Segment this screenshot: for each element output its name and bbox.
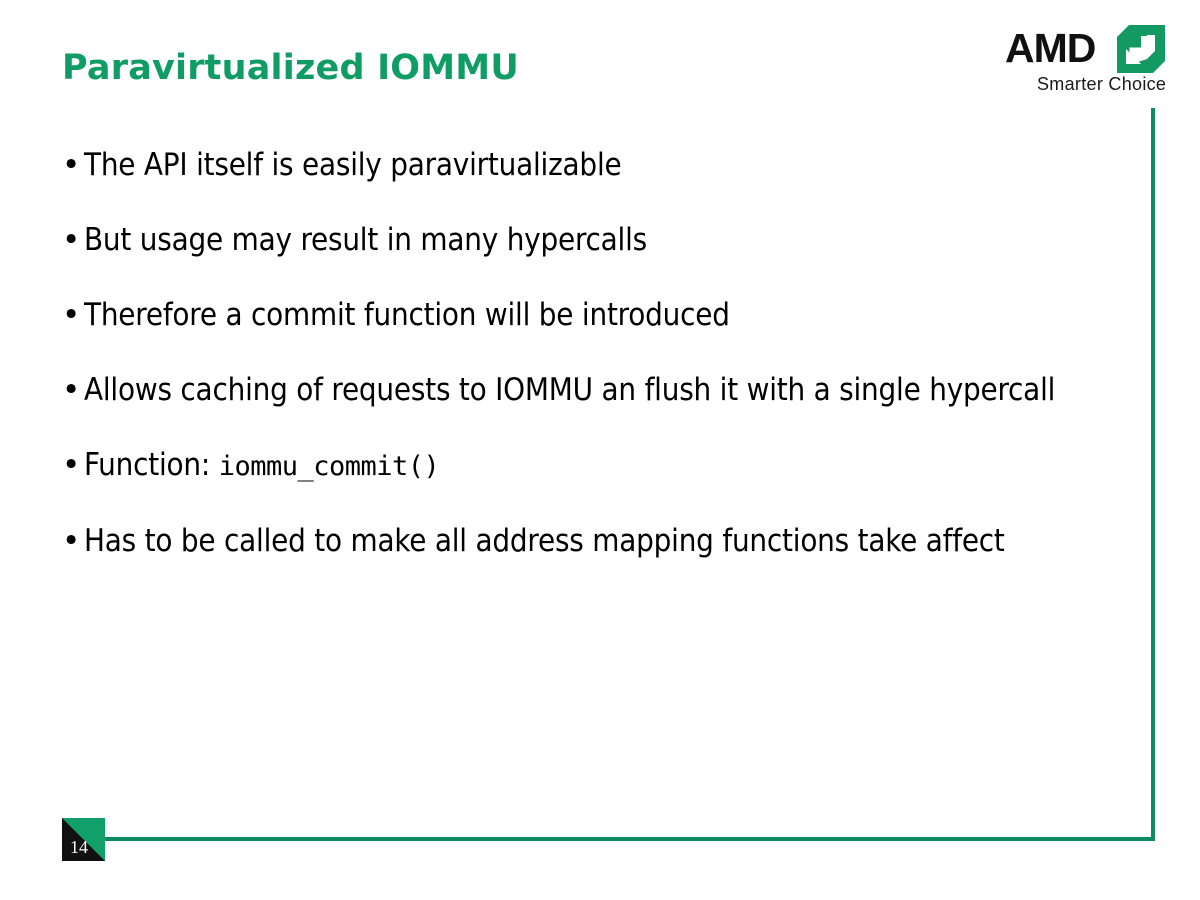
list-item: • Allows caching of requests to IOMMU an… [62, 367, 1112, 414]
bullet-text-label: Function: [84, 447, 219, 483]
bullet-text: Therefore a commit function will be intr… [84, 292, 1112, 339]
bullet-marker-icon: • [62, 292, 84, 339]
bullet-marker-icon: • [62, 442, 84, 489]
bullet-marker-icon: • [62, 367, 84, 414]
code-snippet: iommu_commit() [219, 451, 440, 482]
bullet-text: But usage may result in many hypercalls [84, 217, 1112, 264]
page-title: Paravirtualized IOMMU [62, 48, 519, 88]
page-number-badge: 14 [62, 818, 105, 861]
list-item: • But usage may result in many hypercall… [62, 217, 1112, 264]
bullet-text: Allows caching of requests to IOMMU an f… [84, 367, 1112, 414]
amd-wordmark: AMD [1005, 26, 1095, 70]
bullet-marker-icon: • [62, 217, 84, 264]
list-item: • Therefore a commit function will be in… [62, 292, 1112, 339]
bullet-text: The API itself is easily paravirtualizab… [84, 142, 1112, 189]
horizontal-accent-rule [104, 837, 1155, 841]
amd-arrow-icon [1117, 25, 1165, 73]
amd-tagline: Smarter Choice [1037, 74, 1166, 95]
bullet-marker-icon: • [62, 518, 84, 565]
list-item: • Function: iommu_commit() [62, 442, 1112, 490]
amd-logo: AMD Smarter Choice [1005, 22, 1175, 102]
bullet-text: Has to be called to make all address map… [84, 518, 1112, 565]
list-item: • The API itself is easily paravirtualiz… [62, 142, 1112, 189]
vertical-accent-rule [1151, 108, 1155, 841]
bullet-marker-icon: • [62, 142, 84, 189]
presentation-slide: AMD Smarter Choice Paravirtualized IOMMU… [0, 0, 1200, 900]
bullet-list: • The API itself is easily paravirtualiz… [62, 142, 1112, 593]
page-number: 14 [70, 837, 88, 858]
bullet-text: Function: iommu_commit() [84, 442, 1112, 490]
list-item: • Has to be called to make all address m… [62, 518, 1112, 565]
